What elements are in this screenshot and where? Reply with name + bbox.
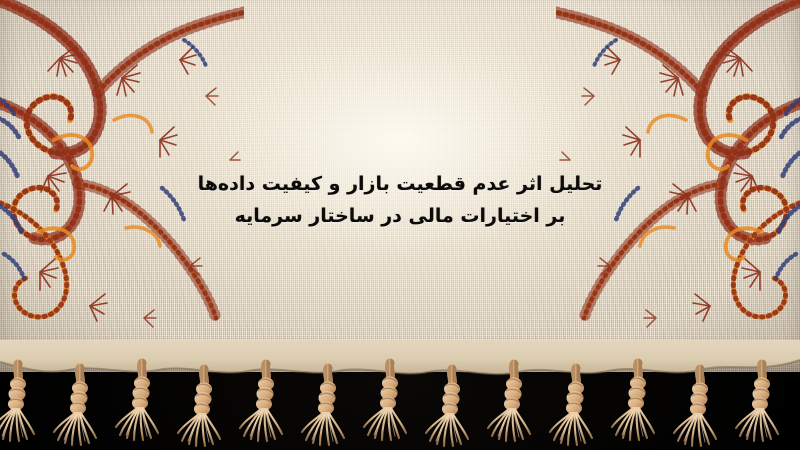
linen-cloth-panel: [0, 0, 800, 372]
title-card-stage: تحلیل اثر عدم قطعیت بازار و کیفیت داده‌ه…: [0, 0, 800, 450]
